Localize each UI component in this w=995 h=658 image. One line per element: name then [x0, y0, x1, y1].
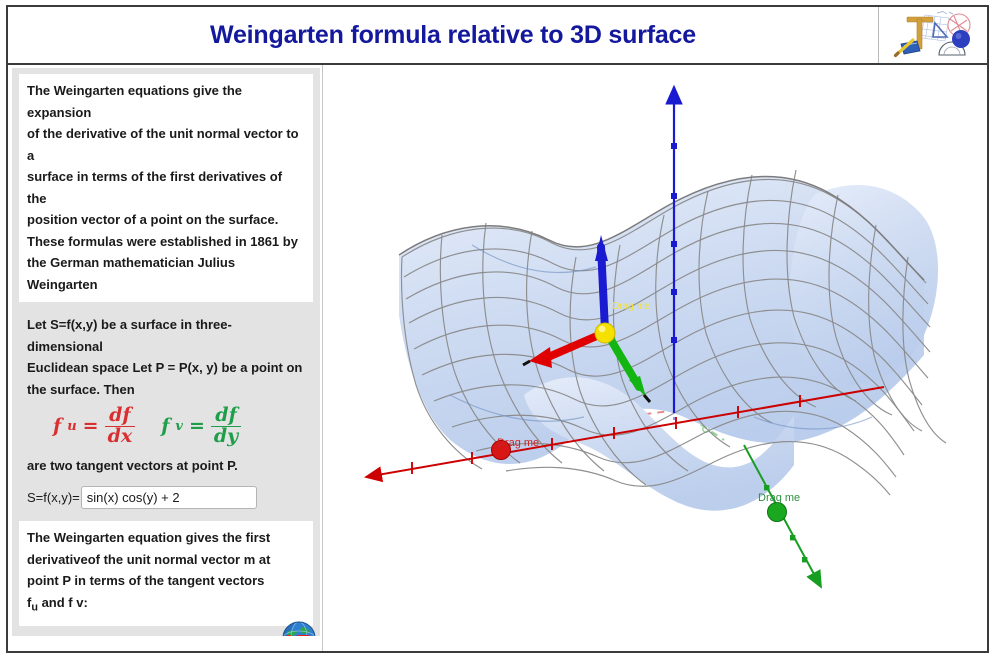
md-globe-logo: MD — [280, 620, 318, 636]
sidebar-divider — [322, 65, 323, 651]
fv-symbol: f — [161, 415, 169, 437]
surface-function-input[interactable] — [81, 486, 257, 509]
fv-numerator: df — [212, 406, 239, 426]
logo-cell — [878, 7, 987, 63]
fv-subscript: v — [175, 419, 183, 434]
intro-line-2: of the derivative of the unit normal vec… — [27, 123, 305, 166]
intro-line-6: the German mathematician Julius Weingart… — [27, 252, 305, 295]
weingarten-line-3: point P in terms of the tangent vectors — [27, 570, 305, 592]
weingarten-fu-sub: u — [31, 601, 38, 613]
fu-equals: = — [83, 415, 99, 437]
function-input-row: S=f(x,y)= — [27, 486, 313, 509]
setup-line-1: Let S=f(x,y) be a surface in three-dimen… — [27, 314, 305, 357]
fv-equals: = — [189, 415, 205, 437]
fu-denominator: dx — [105, 426, 136, 447]
tangent-vectors-formula: fu = df dx fv = df dy — [53, 406, 313, 447]
page-title-area: Weingarten formula relative to 3D surfac… — [8, 7, 878, 63]
intro-line-4: position vector of a point on the surfac… — [27, 209, 305, 231]
math-tools-clipart-icon — [887, 11, 979, 59]
x-axis-drag-handle[interactable] — [492, 441, 511, 460]
weingarten-line-4: fu and f v: — [27, 592, 305, 619]
point-p-highlight — [599, 326, 606, 333]
weingarten-text-box: The Weingarten equation gives the first … — [19, 521, 313, 626]
fv-formula: fv = df dy — [161, 406, 241, 447]
intro-line-3: surface in terms of the first derivative… — [27, 166, 305, 209]
weingarten-line-1: The Weingarten equation gives the first — [27, 527, 305, 549]
sidebar-bottom-strip — [12, 636, 322, 642]
tangent-caption-line: are two tangent vectors at point P. — [27, 455, 305, 477]
application-window: Weingarten formula relative to 3D surfac… — [0, 0, 995, 658]
body-wrap: The Weingarten equations give the expans… — [8, 65, 987, 651]
page-title: Weingarten formula relative to 3D surfac… — [210, 21, 696, 50]
weingarten-tail: and f v: — [38, 595, 88, 610]
fu-symbol: f — [53, 415, 61, 437]
fv-fraction: df dy — [211, 406, 241, 447]
weingarten-line-2: derivativeof the unit normal vector m at — [27, 549, 305, 571]
intro-text-box: The Weingarten equations give the expans… — [19, 74, 313, 302]
fu-formula: fu = df dx — [53, 406, 135, 447]
setup-text: Let S=f(x,y) be a surface in three-dimen… — [19, 314, 313, 400]
y-axis-drag-handle[interactable] — [768, 503, 787, 522]
point-p-drag-handle[interactable] — [595, 323, 615, 343]
outer-frame: Weingarten formula relative to 3D surfac… — [6, 5, 989, 653]
graphics-view-3d[interactable]: Drag me Drag me Drag me — [324, 65, 987, 651]
surface-scene-svg[interactable] — [324, 65, 987, 651]
sidebar-panel: The Weingarten equations give the expans… — [12, 68, 320, 636]
fv-denominator: dy — [211, 426, 241, 447]
setup-line-3: the surface. Then — [27, 379, 305, 401]
fu-numerator: df — [106, 406, 133, 426]
title-bar: Weingarten formula relative to 3D surfac… — [8, 7, 987, 65]
fu-fraction: df dx — [105, 406, 136, 447]
setup-line-2: Euclidean space Let P = P(x, y) be a poi… — [27, 357, 305, 379]
intro-line-5: These formulas were established in 1861 … — [27, 231, 305, 253]
tangent-caption: are two tangent vectors at point P. — [19, 455, 313, 477]
intro-line-1: The Weingarten equations give the expans… — [27, 80, 305, 123]
fu-subscript: u — [67, 419, 76, 434]
function-input-label: S=f(x,y)= — [27, 490, 81, 505]
